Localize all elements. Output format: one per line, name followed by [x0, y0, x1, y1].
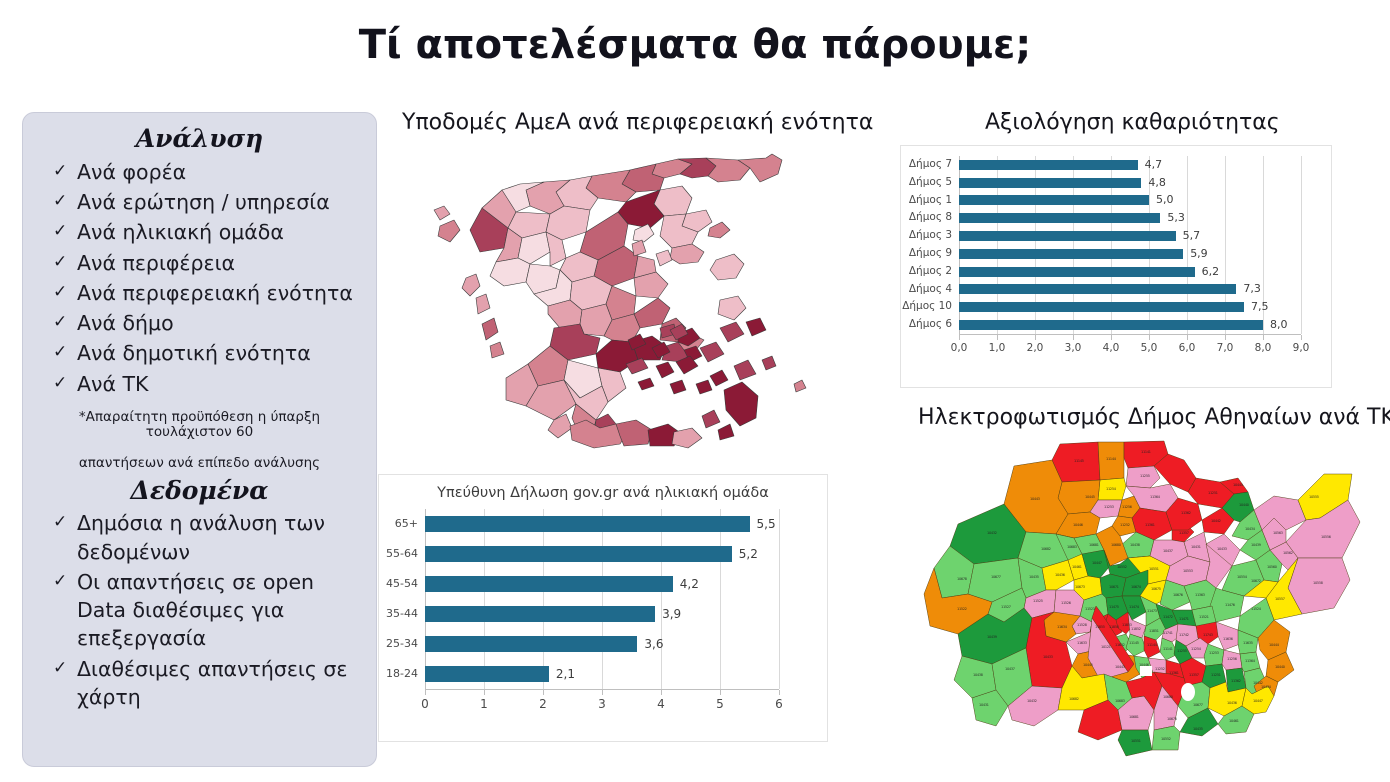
- bar-category-label: Δήμος 6: [909, 316, 959, 334]
- bar-row: Δήμος 107,5: [959, 298, 1301, 316]
- postal-code-label: 11251: [1211, 673, 1221, 677]
- postal-code-label: 11523: [1085, 607, 1095, 611]
- postal-code-label: 11253: [1209, 651, 1219, 655]
- check-icon: ✓: [53, 339, 77, 365]
- bar: 5,2: [425, 546, 732, 562]
- x-tick: [425, 690, 426, 695]
- postal-code-label: 11357: [1179, 531, 1189, 535]
- bar-value-label: 5,5: [757, 516, 776, 532]
- postal-code-label: 11636: [1223, 637, 1233, 641]
- bar-value-label: 4,8: [1148, 178, 1166, 188]
- bar-value-label: 5,7: [1183, 231, 1201, 241]
- slide-canvas: Τί αποτελέσματα θα πάρουμε; Ανάλυση ✓Ανά…: [0, 0, 1390, 782]
- x-tick: [543, 690, 544, 695]
- postal-code-label: 10677: [1193, 703, 1203, 707]
- postal-code-label: 11851: [1149, 629, 1159, 633]
- analysis-list-label: Ανά φορέα: [77, 158, 362, 186]
- greece-regional-units-map: [420, 148, 822, 453]
- analysis-list-label: Ανά δημοτική ενότητα: [77, 339, 362, 367]
- postal-code-label: 10680: [1111, 543, 1121, 547]
- postal-code-label: 11476: [1225, 603, 1235, 607]
- postal-code-label: 10434: [1245, 527, 1255, 531]
- bar: 5,9: [959, 249, 1183, 259]
- postal-code-label: 10435: [1029, 575, 1039, 579]
- postal-code-label: 10673: [1075, 585, 1085, 589]
- postal-code-label: 10440: [1275, 665, 1285, 669]
- x-tick-label: 3,0: [1065, 342, 1082, 354]
- postal-code-label: 11254: [1191, 647, 1201, 651]
- x-tick-label: 7,0: [1217, 342, 1234, 354]
- x-tick-label: 6: [775, 697, 783, 711]
- analysis-list-item: ✓Ανά περιφέρεια: [37, 249, 362, 277]
- postal-code-label: 10556: [1321, 535, 1331, 539]
- postal-code-label: 11145: [1129, 641, 1139, 645]
- bar-value-label: 7,5: [1251, 302, 1269, 312]
- age-plot-area: 65+5,555-645,245-544,235-443,925-343,618…: [425, 509, 779, 689]
- postal-code-label: 11471: [1179, 617, 1189, 621]
- postal-code-label: 11855: [1095, 625, 1105, 629]
- check-icon: ✓: [53, 370, 77, 396]
- postal-code-label: 11521: [1199, 615, 1209, 619]
- postal-code-label: 10677: [991, 575, 1001, 579]
- check-icon: ✓: [53, 218, 77, 244]
- bar-row: 35-443,9: [425, 599, 779, 629]
- analysis-list-label: Ανά δήμο: [77, 309, 362, 337]
- bar-value-label: 6,2: [1202, 267, 1220, 277]
- postal-code-label: 10434: [1261, 685, 1271, 689]
- analysis-list-item: ✓Ανά ερώτηση / υπηρεσία: [37, 188, 362, 216]
- bar-row: Δήμος 54,8: [959, 174, 1301, 192]
- x-tick: [1225, 335, 1226, 340]
- bar-category-label: Δήμος 3: [909, 227, 959, 245]
- postal-code-label: 10681: [1089, 543, 1099, 547]
- postal-code-label: 10439: [1251, 543, 1261, 547]
- x-tick: [1149, 335, 1150, 340]
- bar: 8,0: [959, 320, 1263, 330]
- postal-code-label: 11473: [1147, 609, 1157, 613]
- caption-cleanliness-chart: Αξιολόγηση καθαριότητας: [985, 110, 1280, 135]
- x-tick-label: 0,0: [951, 342, 968, 354]
- x-tick: [1073, 335, 1074, 340]
- postal-code-label: 10551: [1131, 739, 1141, 743]
- postal-code-label: 10461: [1072, 565, 1082, 569]
- postal-code-label: 10444: [1269, 643, 1279, 647]
- bar-category-label: Δήμος 5: [909, 174, 959, 192]
- postal-code-label: 10683: [1115, 699, 1125, 703]
- postal-code-label: 10439: [987, 635, 997, 639]
- data-list-label: Διαθέσιμες απαντήσεις σε χάρτη: [77, 655, 362, 712]
- postal-code-label: 10682: [1041, 547, 1051, 551]
- x-tick-label: 6,0: [1179, 342, 1196, 354]
- postal-code-label: 11363: [1195, 593, 1205, 597]
- postal-code-label: 11255: [1177, 649, 1187, 653]
- postal-code-label: 10682: [1069, 697, 1079, 701]
- cleanliness-x-axis: 0,01,02,03,04,05,06,07,08,09,0: [959, 334, 1301, 356]
- postal-code-label: 10671: [1109, 585, 1119, 589]
- postal-code-label: 10440: [1239, 503, 1249, 507]
- caption-athens-map: Ηλεκτροφωτισμός Δήμος Αθηναίων ανά ΤΚ: [918, 405, 1390, 430]
- postal-code-label: 11141: [1141, 450, 1151, 454]
- postal-code-label: 10432: [987, 531, 997, 535]
- postal-code-label: 10557: [1275, 597, 1285, 601]
- analysis-list-item: ✓Ανά ηλικιακή ομάδα: [37, 218, 362, 246]
- postal-code-label: 10442: [1211, 519, 1221, 523]
- analysis-list-item: ✓Ανά ΤΚ: [37, 370, 362, 398]
- postal-code-label: 11252: [1120, 523, 1130, 527]
- x-tick-label: 5,0: [1141, 342, 1158, 354]
- postal-code-label: 10443: [1115, 665, 1125, 669]
- check-icon: ✓: [53, 279, 77, 305]
- postal-code-label: 11528: [1077, 623, 1087, 627]
- bar-value-label: 7,3: [1243, 284, 1261, 294]
- athens-postal-codes-map: 1114511144111411125511254112531125611364…: [922, 438, 1362, 763]
- x-tick: [661, 690, 662, 695]
- postal-code-label: 11252: [1155, 667, 1165, 671]
- bar-category-label: 25-34: [386, 629, 425, 659]
- check-icon: ✓: [53, 309, 77, 335]
- x-tick: [1187, 335, 1188, 340]
- postal-code-label: 10674: [1131, 585, 1141, 589]
- check-icon: ✓: [53, 158, 77, 184]
- bar: 4,7: [959, 160, 1138, 170]
- postal-code-label: 10431: [1191, 545, 1201, 549]
- bar-row: Δήμος 85,3: [959, 209, 1301, 227]
- check-icon: ✓: [53, 509, 77, 535]
- analysis-list-item: ✓Ανά δημοτική ενότητα: [37, 339, 362, 367]
- data-heading: Δεδομένα: [37, 477, 362, 506]
- bar: 7,5: [959, 302, 1244, 312]
- postal-code-label: 11854: [1109, 625, 1119, 629]
- bar-row: Δήμος 68,0: [959, 316, 1301, 334]
- postal-code-label: 10560: [1267, 565, 1277, 569]
- bar-category-label: 45-54: [386, 569, 425, 599]
- bar-category-label: Δήμος 1: [909, 192, 959, 210]
- postal-code-label: 11253: [1104, 505, 1114, 509]
- postal-code-label: 10433: [1217, 547, 1227, 551]
- bar-row: Δήμος 35,7: [959, 227, 1301, 245]
- bar: 3,6: [425, 636, 637, 652]
- gridline: [779, 509, 780, 689]
- x-tick: [959, 335, 960, 340]
- postal-code-label: 10435: [1193, 727, 1203, 731]
- cleanliness-plot-area: Δήμος 74,7Δήμος 54,8Δήμος 15,0Δήμος 85,3…: [959, 156, 1301, 334]
- data-list: ✓Δημόσια η ανάλυση των δεδομένων✓Οι απαν…: [37, 509, 362, 711]
- age-group-bar-chart: Υπεύθυνη Δήλωση gov.gr ανά ηλικιακή ομάδ…: [378, 474, 828, 742]
- bar-value-label: 4,7: [1145, 160, 1163, 170]
- postal-code-label: 11361: [1145, 523, 1155, 527]
- x-tick-label: 2: [539, 697, 547, 711]
- postal-code-label: 11474: [1129, 605, 1139, 609]
- postal-code-label: 10444: [1233, 483, 1243, 487]
- postal-code-label: 11632: [1115, 643, 1125, 647]
- bar-category-label: Δήμος 8: [909, 209, 959, 227]
- postal-code-label: 11527: [1001, 605, 1011, 609]
- postal-code-label: 11362: [1231, 679, 1241, 683]
- postal-code-label: 10446: [1139, 663, 1149, 667]
- postal-code-label: 11357: [1189, 673, 1199, 677]
- postal-code-label: 10437: [1005, 667, 1015, 671]
- x-tick-label: 1: [480, 697, 488, 711]
- postal-code-label: 11742: [1179, 633, 1189, 637]
- postal-code-label: 10121: [1101, 645, 1111, 649]
- check-icon: ✓: [53, 249, 77, 275]
- postal-code-label: 11145: [1074, 459, 1084, 463]
- bar-category-label: 55-64: [386, 539, 425, 569]
- age-x-axis: 0123456: [425, 689, 779, 715]
- bar-value-label: 2,1: [556, 666, 575, 682]
- bar-category-label: Δήμος 9: [909, 245, 959, 263]
- x-tick-label: 9,0: [1293, 342, 1310, 354]
- postal-code-label: 11144: [1106, 457, 1116, 461]
- postal-code-label: 10681: [1129, 715, 1139, 719]
- bar-row: 18-242,1: [425, 659, 779, 689]
- bar-value-label: 8,0: [1270, 320, 1288, 330]
- postal-code-label: 10562: [1283, 551, 1293, 555]
- bar-row: 45-544,2: [425, 569, 779, 599]
- bar: 5,5: [425, 516, 750, 532]
- postal-code-label: 11251: [1208, 491, 1218, 495]
- bar: 6,2: [959, 267, 1195, 277]
- postal-code-label: 10551: [1149, 567, 1159, 571]
- analysis-list-item: ✓Ανά φορέα: [37, 158, 362, 186]
- bar-value-label: 5,0: [1156, 195, 1174, 205]
- postal-code-label: 11256: [1227, 657, 1237, 661]
- postal-code-label: 10554: [1237, 575, 1247, 579]
- footnote-line-2: απαντήσεων ανά επίπεδο ανάλυσης: [41, 456, 358, 471]
- postal-code-label: 10436: [1055, 573, 1065, 577]
- postal-code-label: 11633: [1077, 641, 1087, 645]
- postal-code-label: 10676: [1173, 593, 1183, 597]
- postal-code-label: 11361: [1169, 671, 1179, 675]
- footnote-line-1: *Απαραίτητη προϋπόθεση η ύπαρξη τουλάχισ…: [41, 410, 358, 440]
- x-tick: [779, 690, 780, 695]
- bar-row: 25-343,6: [425, 629, 779, 659]
- bar-category-label: Δήμος 10: [902, 298, 959, 316]
- x-tick-label: 2,0: [1027, 342, 1044, 354]
- postal-code-label: 10443: [1030, 497, 1040, 501]
- postal-code-label: 10678: [1167, 717, 1177, 721]
- postal-code-label: 10446: [1073, 523, 1083, 527]
- postal-code-label: 10445: [1083, 663, 1093, 667]
- x-tick-label: 1,0: [989, 342, 1006, 354]
- postal-code-label: 10680: [1163, 695, 1173, 699]
- postal-code-label: 11472: [1163, 615, 1173, 619]
- check-icon: ✓: [53, 188, 77, 214]
- postal-code-label: 10675: [1151, 587, 1161, 591]
- postal-code-label: 10563: [1273, 531, 1283, 535]
- analysis-list-label: Ανά ηλικιακή ομάδα: [77, 218, 362, 246]
- postal-code-label: 10432: [1027, 699, 1037, 703]
- check-icon: ✓: [53, 568, 77, 594]
- age-chart-title: Υπεύθυνη Δήλωση gov.gr ανά ηλικιακή ομάδ…: [379, 475, 827, 501]
- postal-code-label: 11525: [1033, 599, 1043, 603]
- data-list-item: ✓Δημόσια η ανάλυση των δεδομένων: [37, 509, 362, 566]
- bar-row: Δήμος 95,9: [959, 245, 1301, 263]
- bar-value-label: 3,9: [662, 606, 681, 622]
- x-tick: [1111, 335, 1112, 340]
- postal-code-label: 10447: [1253, 699, 1263, 703]
- bar-category-label: 18-24: [386, 659, 425, 689]
- x-tick-label: 8,0: [1255, 342, 1272, 354]
- postal-code-label: 10461: [1229, 719, 1239, 723]
- bar-value-label: 5,3: [1167, 213, 1185, 223]
- postal-code-label: 11144: [1147, 643, 1157, 647]
- postal-code-label: 10436: [1227, 701, 1237, 705]
- bar: 5,7: [959, 231, 1176, 241]
- analysis-list-item: ✓Ανά περιφερειακή ενότητα: [37, 279, 362, 307]
- postal-code-label: 11634: [1057, 625, 1067, 629]
- bar-category-label: Δήμος 7: [909, 156, 959, 174]
- analysis-list-label: Ανά περιφέρεια: [77, 249, 362, 277]
- analysis-heading: Ανάλυση: [37, 125, 362, 154]
- postal-code-label: 11526: [1061, 601, 1071, 605]
- analysis-list-label: Ανά ερώτηση / υπηρεσία: [77, 188, 362, 216]
- postal-code-label: 11141: [1163, 647, 1173, 651]
- postal-code-label: 10438: [1130, 543, 1140, 547]
- data-list-label: Οι απαντήσεις σε open Data διαθέσιμες γι…: [77, 568, 362, 653]
- bar: 7,3: [959, 284, 1236, 294]
- postal-code-label: 11852: [1131, 627, 1141, 631]
- bar-value-label: 5,9: [1190, 249, 1208, 259]
- postal-code-label: 11362: [1181, 511, 1191, 515]
- postal-code-label: 11256: [1122, 505, 1132, 509]
- postal-code-label: 10555: [1309, 495, 1319, 499]
- bar-value-label: 4,2: [680, 576, 699, 592]
- bar-row: Δήμος 26,2: [959, 263, 1301, 281]
- x-tick-label: 5: [716, 697, 724, 711]
- analysis-list-label: Ανά ΤΚ: [77, 370, 362, 398]
- x-tick: [484, 690, 485, 695]
- cleanliness-bar-chart: Δήμος 74,7Δήμος 54,8Δήμος 15,0Δήμος 85,3…: [900, 145, 1332, 388]
- bar: 4,2: [425, 576, 673, 592]
- analysis-list-label: Ανά περιφερειακή ενότητα: [77, 279, 362, 307]
- postal-code-label: 10438: [973, 673, 983, 677]
- x-tick: [1263, 335, 1264, 340]
- postal-code-label: 11741: [1163, 631, 1173, 635]
- bar-category-label: Δήμος 2: [909, 263, 959, 281]
- x-tick-label: 4,0: [1103, 342, 1120, 354]
- data-list-item: ✓Οι απαντήσεις σε open Data διαθέσιμες γ…: [37, 568, 362, 653]
- bar-row: 65+5,5: [425, 509, 779, 539]
- x-tick-label: 3: [598, 697, 606, 711]
- x-tick: [997, 335, 998, 340]
- footnote: *Απαραίτητη προϋπόθεση η ύπαρξη τουλάχισ…: [41, 410, 358, 471]
- x-tick: [720, 690, 721, 695]
- analysis-data-panel: Ανάλυση ✓Ανά φορέα✓Ανά ερώτηση / υπηρεσί…: [22, 112, 377, 767]
- check-icon: ✓: [53, 655, 77, 681]
- bar-category-label: Δήμος 4: [909, 281, 959, 299]
- postal-code-label: 10683: [1067, 545, 1077, 549]
- x-tick-label: 4: [657, 697, 665, 711]
- postal-code-label: 10553: [1183, 569, 1193, 573]
- bar-row: Δήμος 47,3: [959, 281, 1301, 299]
- caption-greece-map: Υποδομές ΑμεΑ ανά περιφερειακή ενότητα: [402, 110, 873, 135]
- bar: 2,1: [425, 666, 549, 682]
- postal-code-label: 11635: [1243, 641, 1253, 645]
- gridline: [1301, 156, 1302, 334]
- bar: 4,8: [959, 178, 1141, 188]
- postal-code-label: 10447: [1092, 561, 1102, 565]
- postal-code-label: 10558: [1313, 581, 1323, 585]
- postal-code-label: 11254: [1106, 487, 1116, 491]
- bar-value-label: 3,6: [644, 636, 663, 652]
- data-list-item: ✓Διαθέσιμες απαντήσεις σε χάρτη: [37, 655, 362, 712]
- postal-code-label: 10552: [1117, 565, 1127, 569]
- bar: 5,0: [959, 195, 1149, 205]
- data-list-label: Δημόσια η ανάλυση των δεδομένων: [77, 509, 362, 566]
- postal-code-label: 11522: [957, 607, 967, 611]
- postal-code-label: 10672: [1251, 579, 1261, 583]
- postal-code-label: 10437: [1163, 549, 1173, 553]
- postal-code-label: 10445: [1085, 495, 1095, 499]
- postal-code-label: 10431: [979, 703, 989, 707]
- postal-code-label: 10552: [1161, 737, 1171, 741]
- bar-value-label: 5,2: [739, 546, 758, 562]
- postal-code-label: 10433: [1043, 655, 1053, 659]
- postal-code-label: 11524: [1251, 607, 1261, 611]
- bar-row: Δήμος 74,7: [959, 156, 1301, 174]
- analysis-list: ✓Ανά φορέα✓Ανά ερώτηση / υπηρεσία✓Ανά ηλ…: [37, 158, 362, 398]
- postal-code-label: 11364: [1150, 495, 1160, 499]
- bar: 5,3: [959, 213, 1160, 223]
- postal-code-label: 11364: [1245, 659, 1255, 663]
- postal-code-label: 11475: [1109, 605, 1119, 609]
- bar-row: Δήμος 15,0: [959, 192, 1301, 210]
- postal-code-label: 11255: [1140, 474, 1150, 478]
- x-tick: [602, 690, 603, 695]
- x-tick: [1035, 335, 1036, 340]
- bar-category-label: 65+: [395, 509, 425, 539]
- postal-code-label: 11743: [1203, 633, 1213, 637]
- x-tick-label: 0: [421, 697, 429, 711]
- bar-row: 55-645,2: [425, 539, 779, 569]
- bar-category-label: 35-44: [386, 599, 425, 629]
- analysis-list-item: ✓Ανά δήμο: [37, 309, 362, 337]
- page-title: Τί αποτελέσματα θα πάρουμε;: [0, 22, 1390, 68]
- bar: 3,9: [425, 606, 655, 622]
- postal-code-label: 10678: [957, 577, 967, 581]
- x-tick: [1301, 335, 1302, 340]
